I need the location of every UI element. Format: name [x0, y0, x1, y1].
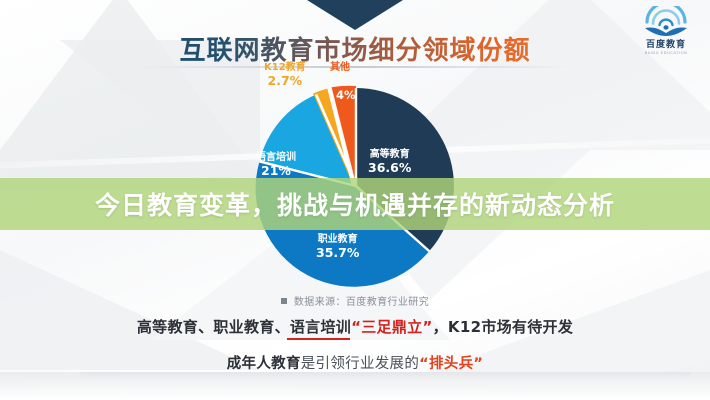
- data-source-line: 数据来源：百度教育行业研究: [0, 293, 710, 308]
- logo-name-cn: 百度教育: [634, 37, 698, 50]
- page-title: 互联网教育市场细分领域份额: [0, 30, 710, 67]
- baidu-education-logo: 百度教育 BAIDU EDUCATION: [634, 6, 698, 60]
- conclusion-2-highlight: 排头兵: [429, 356, 473, 372]
- conclusion-2-lead: 成年人教育: [227, 356, 301, 372]
- baidu-bear-paw-icon: [643, 6, 689, 36]
- conclusion-2-mid: 是引领行业发展的: [301, 356, 419, 372]
- logo-name-en: BAIDU EDUCATION: [636, 50, 697, 55]
- overlay-banner: 今日教育变革，挑战与机遇并存的新动态分析: [0, 178, 710, 230]
- conclusion-1-quote-close: ”: [422, 318, 432, 336]
- data-source-text: 数据来源：百度教育行业研究: [294, 297, 429, 308]
- conclusion-2-quote-open: “: [419, 356, 429, 372]
- title-divider: [140, 66, 570, 68]
- conclusion-line-2: 成年人教育是引领行业发展的“排头兵”: [0, 352, 710, 373]
- top-triangle-decoration: [307, 0, 403, 30]
- conclusion-2-quote-close: ”: [473, 356, 483, 372]
- conclusion-line-1: 高等教育、职业教育、语言培训“三足鼎立”，K12市场有待开发: [0, 316, 710, 337]
- conclusion-1-underline: [287, 338, 350, 340]
- overlay-banner-text: 今日教育变革，挑战与机遇并存的新动态分析: [95, 186, 615, 222]
- infographic-canvas: 互联网教育市场细分领域份额 百度教育 BAIDU EDUCATION: [0, 0, 710, 400]
- conclusion-1-part-b: ，K12市场有待开发: [433, 318, 574, 336]
- conclusion-1-part-a: 高等教育、职业教育、语言培训: [137, 318, 351, 336]
- conclusion-1-highlight: 三足鼎立: [361, 318, 422, 336]
- bottom-edge-decoration: [0, 372, 710, 400]
- bullet-square-icon: [281, 298, 287, 304]
- conclusion-1-quote-open: “: [351, 318, 361, 336]
